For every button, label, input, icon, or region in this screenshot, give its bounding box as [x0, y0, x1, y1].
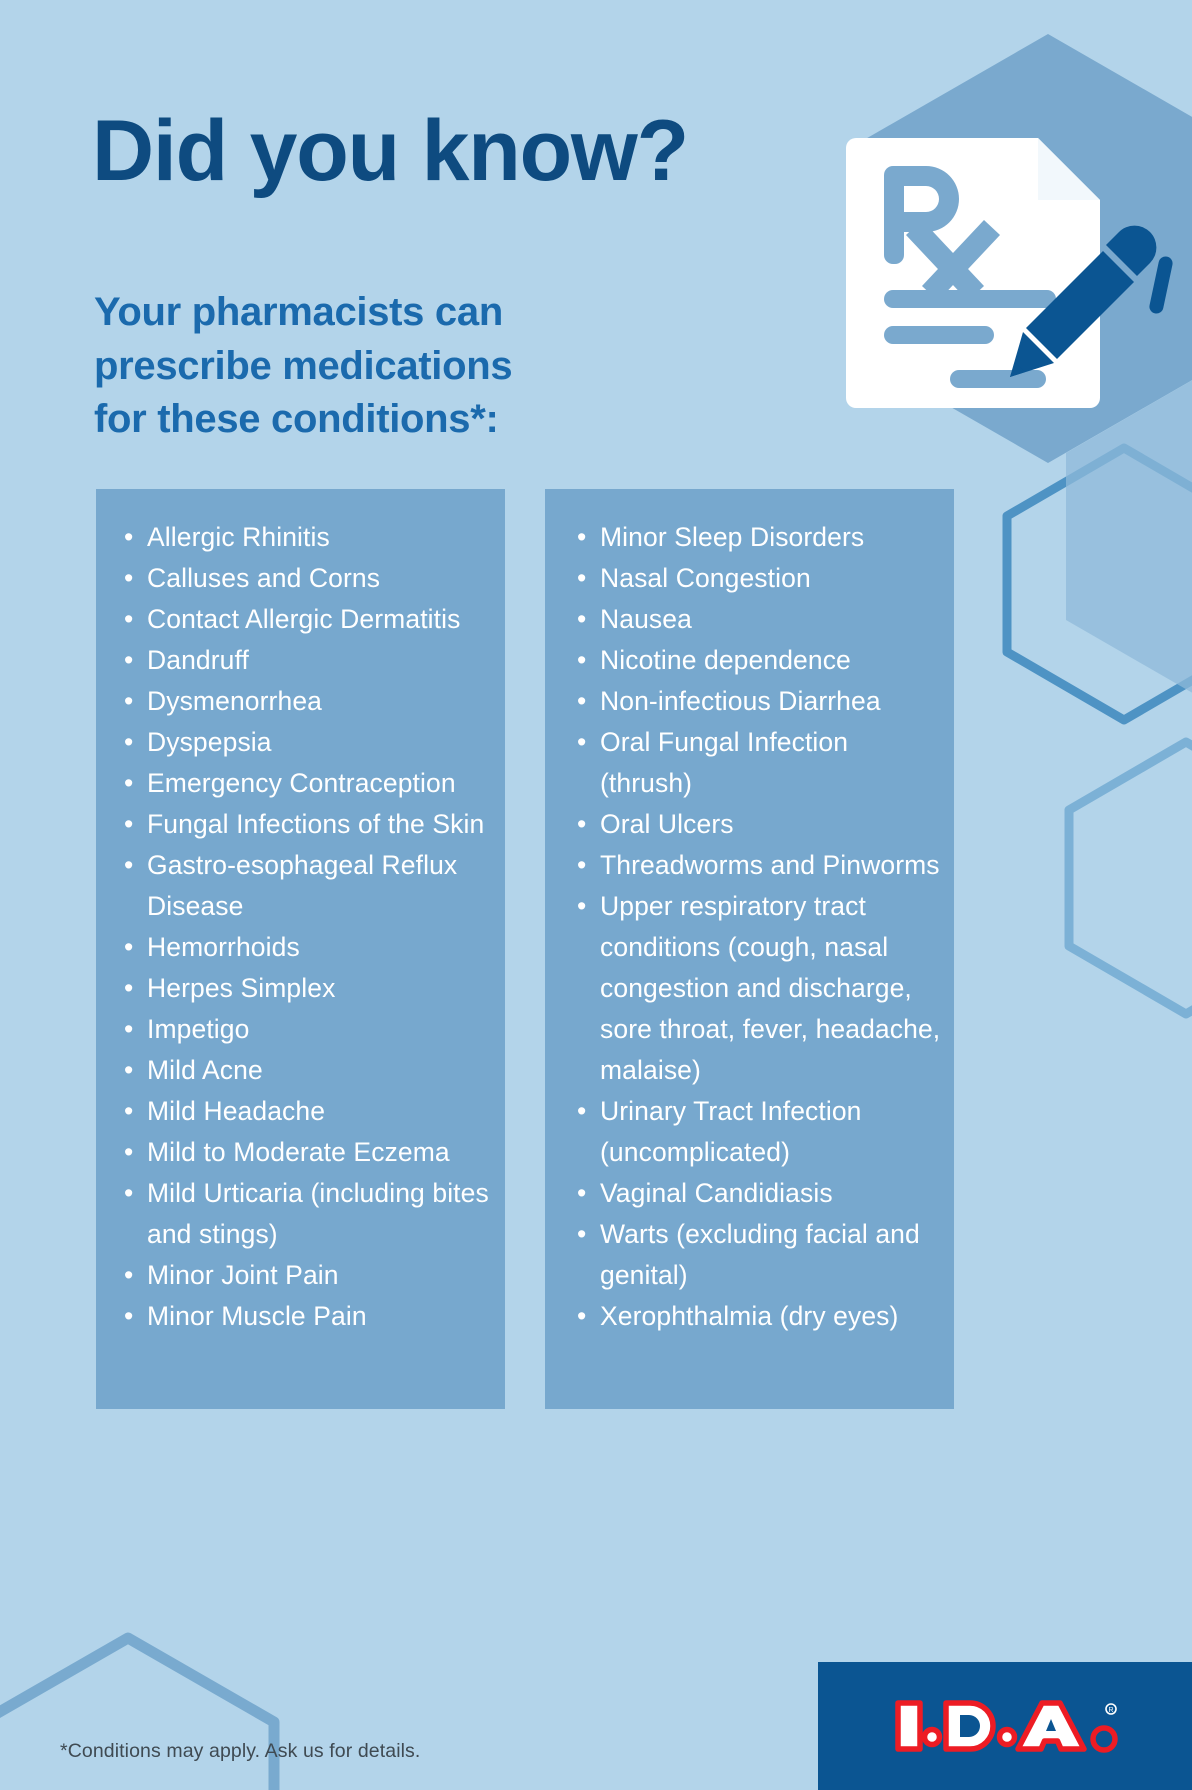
list-item: Nasal Congestion	[575, 558, 944, 599]
list-item: Upper respiratory tract conditions (coug…	[575, 886, 944, 1091]
list-item: Allergic Rhinitis	[122, 517, 489, 558]
list-item: Vaginal Candidiasis	[575, 1173, 944, 1214]
list-item: Oral Fungal Infection (thrush)	[575, 722, 944, 804]
svg-text:R: R	[1108, 1707, 1113, 1714]
list-item: Emergency Contraception	[122, 763, 489, 804]
subtitle-line-1: Your pharmacists can	[94, 286, 714, 340]
subtitle-line-3: for these conditions*:	[94, 393, 714, 447]
list-item: Contact Allergic Dermatitis	[122, 599, 489, 640]
list-item: Oral Ulcers	[575, 804, 944, 845]
list-item: Impetigo	[122, 1009, 489, 1050]
logo-registered-mark	[1093, 1728, 1115, 1750]
list-item: Calluses and Corns	[122, 558, 489, 599]
hexagon-outline-bottom-left	[0, 1638, 274, 1790]
list-item: Mild Acne	[122, 1050, 489, 1091]
list-item: Urinary Tract Infection (uncomplicated)	[575, 1091, 944, 1173]
page-line-2	[884, 326, 994, 344]
list-item: Hemorrhoids	[122, 927, 489, 968]
list-item: Mild Headache	[122, 1091, 489, 1132]
conditions-panel-right: Minor Sleep Disorders Nasal Congestion N…	[545, 489, 954, 1409]
list-item: Dysmenorrhea	[122, 681, 489, 722]
conditions-list-right: Minor Sleep Disorders Nasal Congestion N…	[545, 489, 954, 1337]
signature-line	[950, 370, 1046, 388]
hexagon-outline-right-lower	[1069, 742, 1192, 1014]
list-item: Minor Muscle Pain	[122, 1296, 489, 1337]
list-item: Non-infectious Diarrhea	[575, 681, 944, 722]
ida-logo-block: R I.D.A.	[818, 1662, 1192, 1790]
list-item: Minor Sleep Disorders	[575, 517, 944, 558]
page-line-1	[884, 290, 1056, 308]
page-fold	[1038, 138, 1100, 200]
rx-prescription-icon	[738, 14, 1192, 444]
subtitle-line-2: prescribe medications	[94, 340, 714, 394]
poster-canvas: Did you know? Your pharmacists can presc…	[0, 0, 1192, 1790]
list-item: Nausea	[575, 599, 944, 640]
list-item: Nicotine dependence	[575, 640, 944, 681]
list-item: Fungal Infections of the Skin	[122, 804, 489, 845]
conditions-panel-left: Allergic Rhinitis Calluses and Corns Con…	[96, 489, 505, 1409]
list-item: Xerophthalmia (dry eyes)	[575, 1296, 944, 1337]
conditions-list-left: Allergic Rhinitis Calluses and Corns Con…	[96, 489, 505, 1337]
ida-logo-icon: R	[890, 1693, 1120, 1759]
list-item: Mild to Moderate Eczema	[122, 1132, 489, 1173]
list-item: Gastro-esophageal Reflux Disease	[122, 845, 489, 927]
page-subtitle: Your pharmacists can prescribe medicatio…	[94, 286, 714, 447]
list-item: Warts (excluding facial and genital)	[575, 1214, 944, 1296]
list-item: Herpes Simplex	[122, 968, 489, 1009]
list-item: Threadworms and Pinworms	[575, 845, 944, 886]
footnote-disclaimer: *Conditions may apply. Ask us for detail…	[60, 1740, 420, 1763]
page-title: Did you know?	[92, 108, 688, 194]
list-item: Dandruff	[122, 640, 489, 681]
list-item: Dyspepsia	[122, 722, 489, 763]
list-item: Mild Urticaria (including bites and stin…	[122, 1173, 489, 1255]
list-item: Minor Joint Pain	[122, 1255, 489, 1296]
